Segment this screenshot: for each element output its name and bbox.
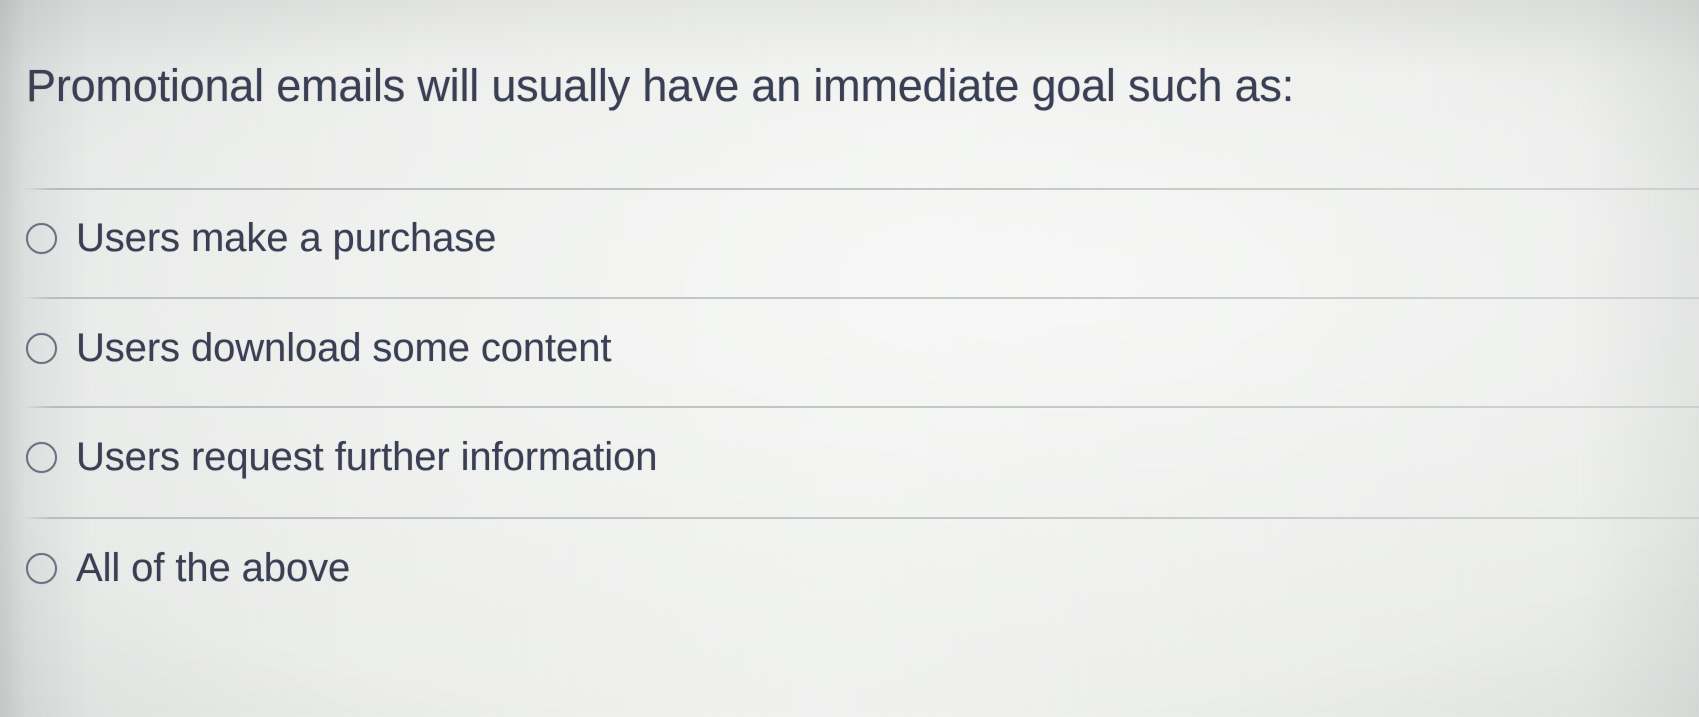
question-title: Promotional emails will usually have an … [26, 56, 1294, 116]
answer-option-label: All of the above [76, 544, 350, 592]
radio-unchecked-icon[interactable] [26, 553, 57, 584]
quiz-question-panel: Promotional emails will usually have an … [0, 0, 1699, 717]
answer-option-label: Users request further information [76, 433, 657, 481]
answer-option-0[interactable]: Users make a purchase [26, 214, 496, 262]
answer-option-label: Users make a purchase [76, 214, 496, 262]
radio-unchecked-icon[interactable] [26, 442, 57, 473]
answer-option-1[interactable]: Users download some content [26, 324, 611, 372]
answer-option-label: Users download some content [76, 324, 611, 372]
option-divider [22, 188, 1699, 190]
option-divider [22, 297, 1699, 299]
option-divider [22, 406, 1699, 408]
photographed-screen: Promotional emails will usually have an … [0, 0, 1699, 717]
answer-option-2[interactable]: Users request further information [26, 433, 657, 481]
radio-unchecked-icon[interactable] [26, 223, 57, 254]
answer-option-3[interactable]: All of the above [26, 544, 350, 592]
option-divider [22, 517, 1699, 519]
radio-unchecked-icon[interactable] [26, 333, 57, 364]
